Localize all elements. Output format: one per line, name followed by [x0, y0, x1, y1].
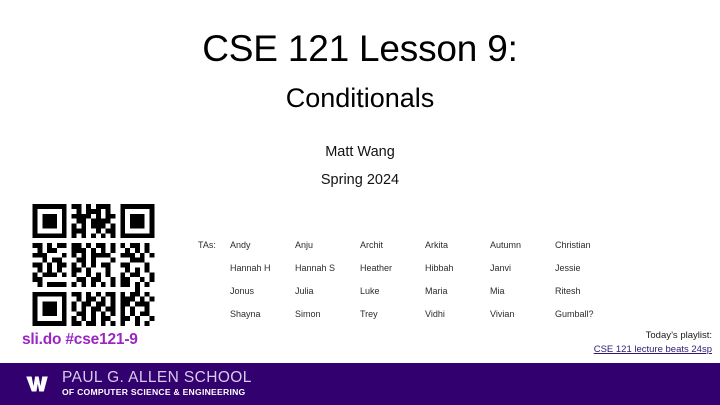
ta-name: Maria	[425, 286, 490, 309]
ta-name: Anju	[295, 240, 360, 263]
slide-canvas: CSE 121 Lesson 9: Conditionals Matt Wang…	[0, 0, 720, 405]
ta-name: Andy	[230, 240, 295, 263]
allen-school-name: PAUL G. ALLEN SCHOOL	[62, 370, 252, 386]
ta-name: Hannah S	[295, 263, 360, 286]
ta-name: Mia	[490, 286, 555, 309]
ta-name: Simon	[295, 309, 360, 332]
ta-name: Heather	[360, 263, 425, 286]
ta-name: Autumn	[490, 240, 555, 263]
ta-name: Janvi	[490, 263, 555, 286]
footer-text-block: PAUL G. ALLEN SCHOOL OF COMPUTER SCIENCE…	[62, 370, 252, 397]
slido-label: sli.do #cse121-9	[22, 331, 138, 349]
ta-name: Luke	[360, 286, 425, 309]
ta-name: Ritesh	[555, 286, 620, 309]
ta-list: TAs: Andy Anju Archit Arkita Autumn Chri…	[198, 240, 620, 332]
ta-name: Shayna	[230, 309, 295, 332]
ta-list-label-spacer	[198, 286, 230, 309]
playlist-link[interactable]: CSE 121 lecture beats 24sp	[532, 343, 712, 357]
page-subtitle: Conditionals	[0, 84, 720, 112]
uw-w-logo-icon	[24, 371, 50, 397]
ta-name: Archit	[360, 240, 425, 263]
ta-name: Vidhi	[425, 309, 490, 332]
author-name: Matt Wang	[0, 144, 720, 160]
ta-name: Hannah H	[230, 263, 295, 286]
term-label: Spring 2024	[0, 172, 720, 188]
footer-banner: PAUL G. ALLEN SCHOOL OF COMPUTER SCIENCE…	[0, 363, 720, 405]
table-row: TAs: Andy Anju Archit Arkita Autumn Chri…	[198, 240, 620, 263]
ta-list-label-spacer	[198, 263, 230, 286]
ta-name: Julia	[295, 286, 360, 309]
ta-name: Jonus	[230, 286, 295, 309]
qr-code[interactable]	[31, 204, 156, 326]
ta-name: Christian	[555, 240, 620, 263]
playlist-block: Today’s playlist: CSE 121 lecture beats …	[532, 329, 712, 357]
ta-list-label-spacer	[198, 309, 230, 332]
ta-list-label: TAs:	[198, 240, 230, 263]
ta-name: Hibbah	[425, 263, 490, 286]
allen-school-department: OF COMPUTER SCIENCE & ENGINEERING	[62, 388, 252, 398]
table-row: Hannah H Hannah S Heather Hibbah Janvi J…	[198, 263, 620, 286]
page-title: CSE 121 Lesson 9:	[0, 30, 720, 69]
ta-name: Jessie	[555, 263, 620, 286]
ta-name: Arkita	[425, 240, 490, 263]
table-row: Jonus Julia Luke Maria Mia Ritesh	[198, 286, 620, 309]
ta-name: Trey	[360, 309, 425, 332]
playlist-caption: Today’s playlist:	[646, 330, 712, 341]
